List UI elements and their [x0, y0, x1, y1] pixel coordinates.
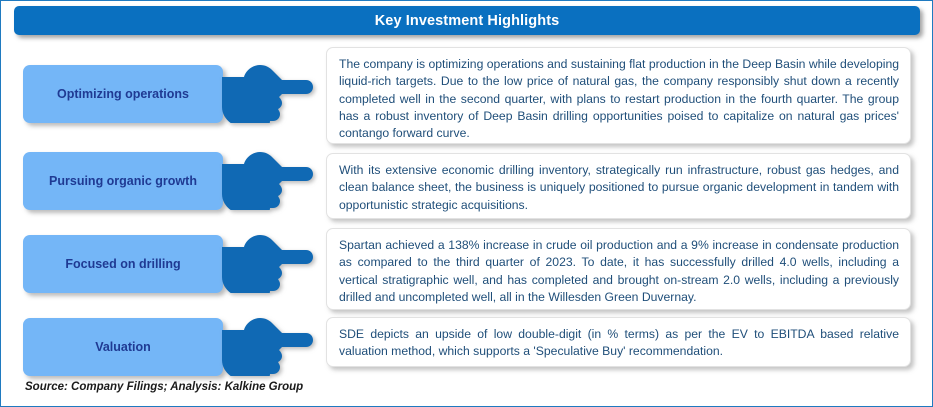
highlight-chip-optimizing-operations[interactable]: Optimizing operations — [23, 65, 223, 123]
highlight-chip-valuation[interactable]: Valuation — [23, 318, 223, 376]
page-title: Key Investment Highlights — [375, 13, 560, 29]
pointing-hand-right-icon — [216, 231, 316, 293]
highlight-card-valuation: SDE depicts an upside of low double-digi… — [326, 317, 911, 367]
highlight-card-focused-on-drilling: Spartan achieved a 138% increase in crud… — [326, 228, 911, 310]
highlight-chip-label: Pursuing organic growth — [49, 174, 197, 189]
highlight-card-body: SDE depicts an upside of low double-digi… — [339, 326, 899, 361]
highlight-chip-label: Valuation — [95, 340, 151, 355]
slide-header-bar: Key Investment Highlights — [14, 6, 920, 35]
highlight-card-optimizing-operations: The company is optimizing operations and… — [326, 47, 911, 144]
pointing-hand-right-icon — [216, 61, 316, 123]
key-investment-highlights-slide: Key Investment Highlights Optimizing ope… — [0, 0, 933, 407]
highlight-card-pursuing-organic-growth: With its extensive economic drilling inv… — [326, 153, 911, 219]
pointing-hand-right-icon — [216, 314, 316, 376]
pointing-hand-right-icon — [216, 148, 316, 210]
highlight-card-body: With its extensive economic drilling inv… — [339, 162, 899, 214]
highlight-card-body: The company is optimizing operations and… — [339, 56, 899, 143]
source-note: Source: Company Filings; Analysis: Kalki… — [25, 381, 303, 393]
highlight-chip-label: Focused on drilling — [65, 257, 180, 272]
highlight-chip-pursuing-organic-growth[interactable]: Pursuing organic growth — [23, 152, 223, 210]
highlight-chip-label: Optimizing operations — [57, 87, 189, 102]
highlight-card-body: Spartan achieved a 138% increase in crud… — [339, 237, 899, 306]
highlight-chip-focused-on-drilling[interactable]: Focused on drilling — [23, 235, 223, 293]
